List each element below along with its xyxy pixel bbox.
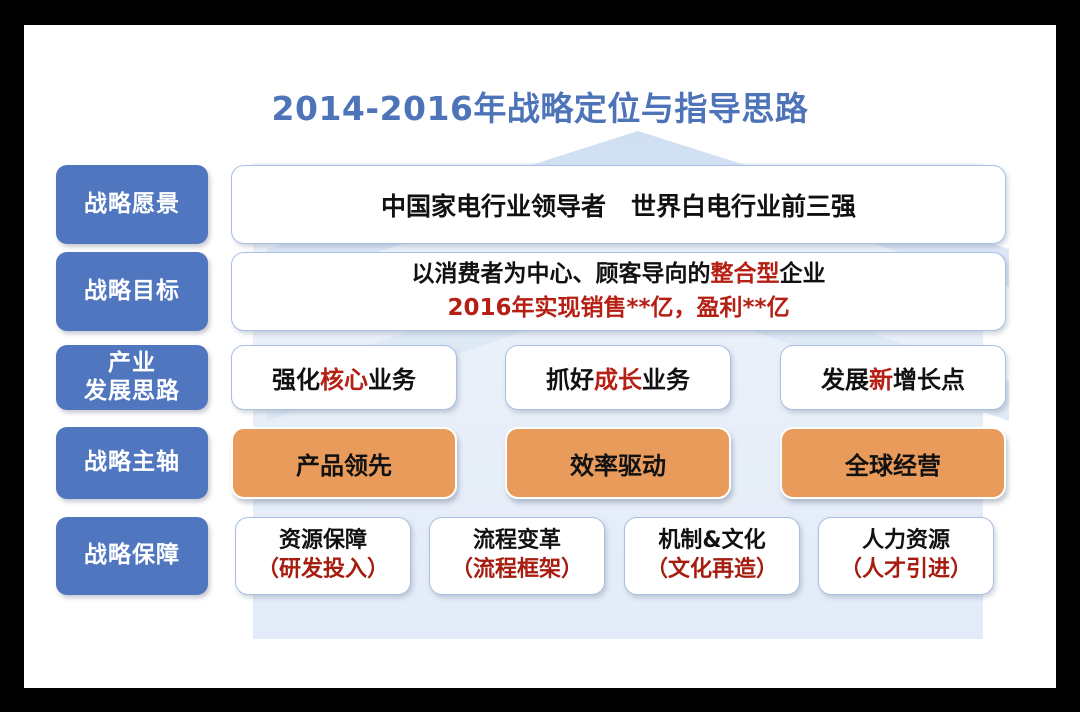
card-axis-3-text: 全球经营 (845, 446, 941, 481)
row-label-goal[interactable]: 战略目标 (56, 252, 208, 331)
card-goal-line1-part1: 以消费者为中心、顾客导向的 (412, 261, 711, 287)
card-goal-line1-highlight: 整合型 (711, 261, 780, 287)
row-label-industry-line2: 发展思路 (84, 378, 180, 406)
card-industry-2-part2: 业务 (642, 366, 690, 394)
row-label-industry[interactable]: 产业 发展思路 (56, 345, 208, 410)
card-industry-3-highlight: 新 (869, 366, 893, 394)
card-axis-2-text: 效率驱动 (570, 446, 666, 481)
card-industry-1-text: 强化核心业务 (272, 360, 416, 395)
row-label-industry-wrap: 产业 发展思路 (84, 350, 180, 405)
card-industry-3-text: 发展新增长点 (821, 360, 965, 395)
card-axis-2[interactable]: 效率驱动 (505, 427, 731, 499)
row-label-vision-text: 战略愿景 (84, 191, 180, 219)
card-industry-1-part1: 强化 (272, 366, 320, 394)
row-label-axis-text: 战略主轴 (84, 449, 180, 477)
card-guarantee-4-line1: 人力资源 (862, 527, 950, 556)
card-vision-text: 中国家电行业领导者 世界白电行业前三强 (381, 187, 856, 223)
row-label-guarantee-text: 战略保障 (84, 542, 180, 570)
card-guarantee-3-line1: 机制&文化 (658, 527, 765, 556)
card-industry-1[interactable]: 强化核心业务 (231, 345, 457, 410)
row-label-vision[interactable]: 战略愿景 (56, 165, 208, 244)
slide-canvas: 2014-2016年战略定位与指导思路 战略愿景 战略目标 (24, 25, 1056, 688)
card-axis-1[interactable]: 产品领先 (231, 427, 457, 499)
card-guarantee-1[interactable]: 资源保障 （研发投入） (235, 517, 411, 595)
card-guarantee-1-line1: 资源保障 (279, 527, 367, 556)
card-industry-1-highlight: 核心 (320, 366, 368, 394)
card-guarantee-2[interactable]: 流程变革 （流程框架） (429, 517, 605, 595)
card-guarantee-2-line1: 流程变革 (473, 527, 561, 556)
row-label-industry-line1: 产业 (84, 350, 180, 378)
row-label-axis[interactable]: 战略主轴 (56, 427, 208, 499)
card-goal-line2: 2016年实现销售**亿，盈利**亿 (447, 292, 789, 325)
card-guarantee-3[interactable]: 机制&文化 （文化再造） (624, 517, 800, 595)
card-industry-3-part2: 增长点 (893, 366, 965, 394)
card-industry-3-part1: 发展 (821, 366, 869, 394)
row-label-guarantee[interactable]: 战略保障 (56, 517, 208, 595)
card-guarantee-3-line2: （文化再造） (646, 556, 778, 585)
card-industry-3[interactable]: 发展新增长点 (780, 345, 1006, 410)
card-vision[interactable]: 中国家电行业领导者 世界白电行业前三强 (231, 165, 1006, 244)
page-title: 2014-2016年战略定位与指导思路 (24, 82, 1056, 130)
card-goal-line1: 以消费者为中心、顾客导向的整合型企业 (412, 258, 826, 291)
card-guarantee-1-line2: （研发投入） (257, 556, 389, 585)
card-industry-2[interactable]: 抓好成长业务 (505, 345, 731, 410)
card-goal-line1-part2: 企业 (780, 261, 826, 287)
card-guarantee-4[interactable]: 人力资源 （人才引进） (818, 517, 994, 595)
card-guarantee-2-line2: （流程框架） (451, 556, 583, 585)
card-industry-2-part1: 抓好 (546, 366, 594, 394)
card-industry-2-highlight: 成长 (594, 366, 642, 394)
card-axis-3[interactable]: 全球经营 (780, 427, 1006, 499)
card-industry-1-part2: 业务 (368, 366, 416, 394)
card-guarantee-4-line2: （人才引进） (840, 556, 972, 585)
card-goal[interactable]: 以消费者为中心、顾客导向的整合型企业 2016年实现销售**亿，盈利**亿 (231, 252, 1006, 331)
row-label-goal-text: 战略目标 (84, 278, 180, 306)
card-axis-1-text: 产品领先 (296, 446, 392, 481)
card-industry-2-text: 抓好成长业务 (546, 360, 690, 395)
